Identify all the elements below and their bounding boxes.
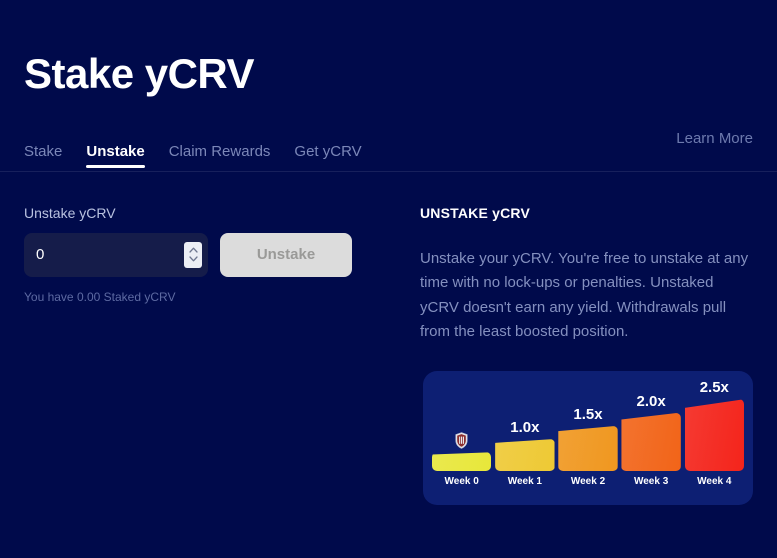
shield-icon	[455, 432, 468, 449]
boost-week-labels: Week 0Week 1Week 2Week 3Week 4	[432, 476, 744, 494]
amount-field-label: Unstake yCRV	[24, 205, 384, 222]
tab-unstake[interactable]: Unstake	[86, 120, 144, 172]
learn-more-link[interactable]: Learn More	[676, 130, 753, 147]
boost-week-label: Week 4	[685, 476, 744, 487]
boost-bar	[685, 399, 744, 471]
amount-row: Unstake	[24, 233, 384, 277]
tab-list: Stake Unstake Claim Rewards Get yCRV	[24, 120, 362, 172]
chevron-down-icon[interactable]	[189, 256, 198, 262]
unstake-form: Unstake yCRV Unstake You have 0.00 Stake…	[24, 205, 384, 305]
boost-week-label: Week 3	[621, 476, 680, 487]
boost-bar	[621, 413, 680, 472]
amount-input[interactable]	[24, 233, 208, 277]
boost-bars: 1.0x1.5x2.0x2.5x	[432, 379, 744, 471]
chevron-up-icon[interactable]	[189, 247, 198, 253]
info-title: UNSTAKE yCRV	[420, 205, 756, 221]
boost-chart-card: 1.0x1.5x2.0x2.5x Week 0Week 1Week 2Week …	[423, 371, 753, 505]
info-panel: UNSTAKE yCRV Unstake your yCRV. You're f…	[420, 205, 756, 344]
boost-chart: 1.0x1.5x2.0x2.5x Week 0Week 1Week 2Week …	[432, 379, 744, 497]
info-description: Unstake your yCRV. You're free to unstak…	[420, 247, 756, 344]
boost-week-label: Week 2	[558, 476, 617, 487]
boost-week-label: Week 0	[432, 476, 491, 487]
boost-bar	[432, 452, 491, 471]
boost-bar-value-label: 1.5x	[558, 406, 617, 423]
boost-bar-value-label: 2.5x	[685, 379, 744, 396]
staked-balance-text: You have 0.00 Staked yCRV	[24, 290, 384, 306]
boost-bar-value-label: 2.0x	[621, 393, 680, 410]
amount-input-wrapper[interactable]	[24, 233, 208, 277]
amount-stepper[interactable]	[184, 242, 202, 268]
boost-week-label: Week 1	[495, 476, 554, 487]
tab-bar: Stake Unstake Claim Rewards Get yCRV Lea…	[0, 120, 777, 172]
boost-bar-value-label: 1.0x	[495, 419, 554, 436]
boost-bar	[495, 439, 554, 471]
unstake-submit-button[interactable]: Unstake	[220, 233, 352, 277]
boost-bar	[558, 426, 617, 471]
tab-stake[interactable]: Stake	[24, 120, 62, 172]
page-title: Stake yCRV	[24, 51, 254, 97]
tab-get-ycrv[interactable]: Get yCRV	[294, 120, 361, 172]
tab-claim-rewards[interactable]: Claim Rewards	[169, 120, 271, 172]
